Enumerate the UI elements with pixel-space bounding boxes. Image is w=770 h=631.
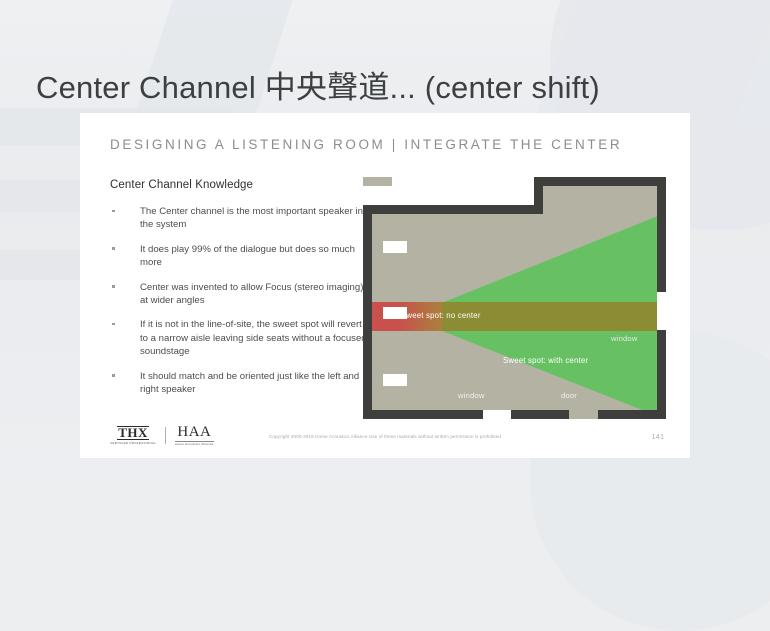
room-diagram: Sweet spot: no center Sweet spot: with c… xyxy=(363,177,673,427)
slide-header: DESIGNING A LISTENING ROOM | INTEGRATE T… xyxy=(110,137,622,152)
speaker-right xyxy=(383,374,407,386)
wall-right-lower xyxy=(657,329,666,419)
room-outline: Sweet spot: no center Sweet spot: with c… xyxy=(363,177,673,427)
wall-top-upper xyxy=(534,177,666,186)
wall-top-lower xyxy=(363,205,543,214)
bullet-dot-icon xyxy=(112,374,115,377)
wall-left xyxy=(363,213,372,419)
label-window-right: window xyxy=(611,334,638,343)
list-item-text: The Center channel is the most important… xyxy=(140,206,363,230)
door-opening-bottom xyxy=(363,177,392,186)
section-title: Center Channel Knowledge xyxy=(110,179,253,191)
window-opening-right xyxy=(657,292,666,330)
list-item: It should match and be oriented just lik… xyxy=(110,370,372,397)
copyright-text: Copyright 2000-2016 Home Acoustics Allia… xyxy=(80,434,690,439)
list-item: The Center channel is the most important… xyxy=(110,205,372,232)
room-floor-alcove xyxy=(541,185,665,219)
bullet-dot-icon xyxy=(112,247,115,250)
label-window-bottom: window xyxy=(458,391,485,400)
list-item-text: If it is not in the line-of-site, the sw… xyxy=(140,319,367,357)
list-item-text: It does play 99% of the dialogue but doe… xyxy=(140,244,355,268)
slide-card: DESIGNING A LISTENING ROOM | INTEGRATE T… xyxy=(80,113,690,458)
bullet-dot-icon xyxy=(112,210,115,213)
thx-subtext: CERTIFIED PROFESSIONAL xyxy=(110,441,156,445)
label-sweet-spot-with-center: Sweet spot: with center xyxy=(503,356,588,365)
list-item-text: It should match and be oriented just lik… xyxy=(140,371,359,395)
list-item: It does play 99% of the dialogue but doe… xyxy=(110,243,372,270)
page-title: Center Channel 中央聲道... (center shift) xyxy=(36,62,600,107)
wall-right-upper xyxy=(657,177,666,292)
list-item: If it is not in the line-of-site, the sw… xyxy=(110,318,372,358)
bullet-dot-icon xyxy=(112,285,115,288)
label-sweet-spot-no-center: Sweet spot: no center xyxy=(401,311,481,320)
bullet-dot-icon xyxy=(112,323,115,326)
label-door: door xyxy=(561,391,577,400)
bullet-list: The Center channel is the most important… xyxy=(110,205,372,407)
haa-subtext: Home Acoustics Alliance xyxy=(175,441,213,447)
page-number: 141 xyxy=(651,432,664,441)
list-item-text: Center was invented to allow Focus (ster… xyxy=(140,282,363,306)
speaker-left xyxy=(383,241,407,253)
list-item: Center was invented to allow Focus (ster… xyxy=(110,281,372,308)
slide-footer: THX CERTIFIED PROFESSIONAL HAA Home Acou… xyxy=(80,418,690,458)
